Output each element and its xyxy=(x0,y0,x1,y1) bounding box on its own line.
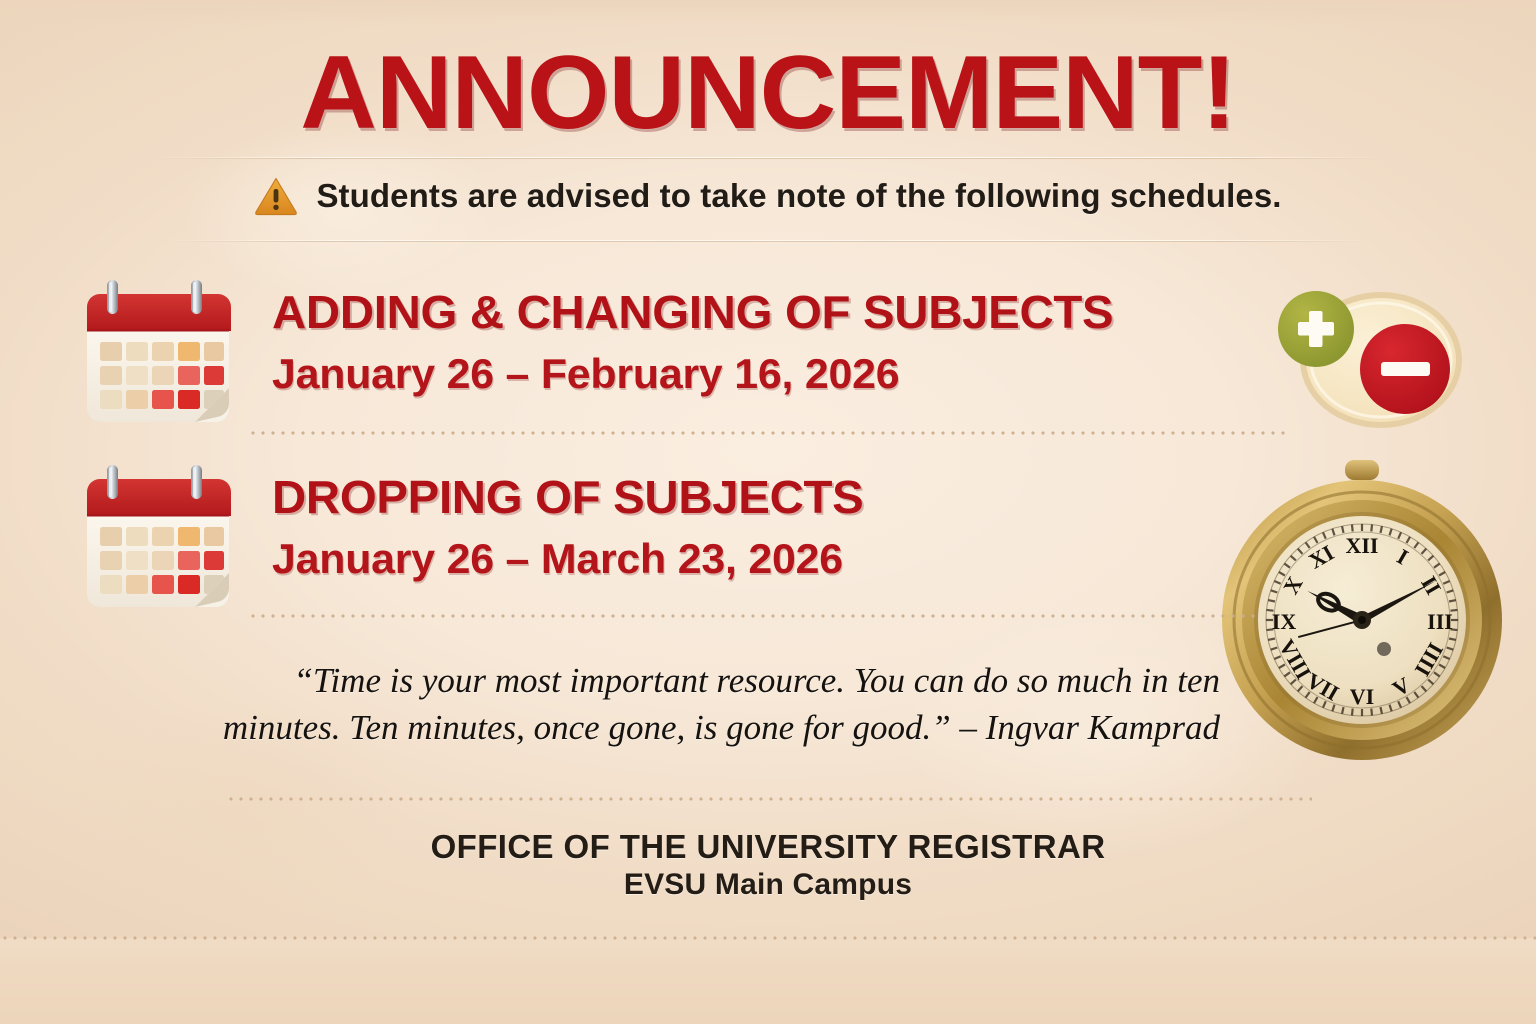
footer-office: OFFICE OF THE UNIVERSITY REGISTRAR xyxy=(0,828,1536,866)
svg-text:VI: VI xyxy=(1350,684,1374,709)
svg-text:IX: IX xyxy=(1272,609,1297,634)
schedule-dates: January 26 – March 23, 2026 xyxy=(272,535,858,582)
footer-campus: EVSU Main Campus xyxy=(0,868,1536,902)
warning-triangle-icon xyxy=(254,176,298,216)
schedule-text-adding: ADDING & CHANGING OF SUBJECTS January 26… xyxy=(272,288,1089,397)
divider-dotted-1 xyxy=(248,431,1288,435)
subtitle-text: Students are advised to take note of the… xyxy=(316,177,1281,215)
schedule-heading: ADDING & CHANGING OF SUBJECTS xyxy=(272,288,1113,338)
top-edge-band xyxy=(0,0,1536,26)
svg-text:XII: XII xyxy=(1345,533,1378,558)
bottom-edge-band xyxy=(0,938,1536,1024)
divider-dotted-2 xyxy=(248,614,1258,618)
page-title: ANNOUNCEMENT! xyxy=(0,38,1536,148)
clock-icon: XII I II III IIII V VI VII VIII IX X XI xyxy=(1212,452,1512,764)
svg-text:III: III xyxy=(1427,609,1453,634)
schedule-heading: DROPPING OF SUBJECTS xyxy=(272,473,863,523)
calendar-icon xyxy=(78,276,238,436)
schedule-dates: January 26 – February 16, 2026 xyxy=(272,350,1105,397)
plus-minus-icon xyxy=(1258,276,1488,441)
subtitle-row: Students are advised to take note of the… xyxy=(0,176,1536,216)
schedule-text-dropping: DROPPING OF SUBJECTS January 26 – March … xyxy=(272,473,846,582)
calendar-icon xyxy=(78,461,238,621)
divider-dotted-bottom xyxy=(0,936,1536,940)
title-divider xyxy=(150,158,1386,159)
subtitle-divider xyxy=(168,241,1368,242)
announcement-poster: ANNOUNCEMENT! Students are advised to ta… xyxy=(0,0,1536,1024)
divider-dotted-3 xyxy=(226,797,1312,801)
quote-text: “Time is your most important resource. Y… xyxy=(200,658,1220,751)
